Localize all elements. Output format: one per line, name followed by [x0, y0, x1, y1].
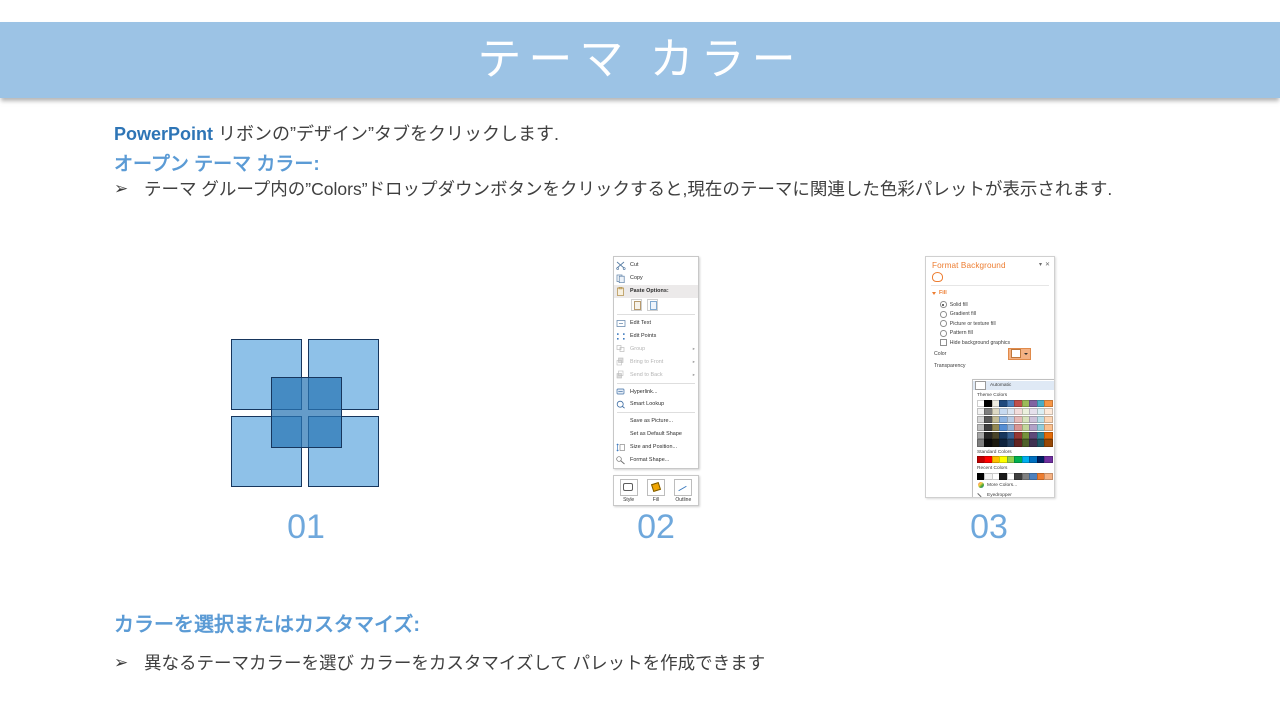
context-menu-label: Set as Default Shape: [616, 431, 695, 437]
step-number-02: 02: [596, 508, 716, 547]
eyedropper-icon: [977, 492, 984, 498]
menu-divider: [617, 412, 695, 413]
field-transparency: Transparency: [926, 360, 1054, 372]
fill-group-header[interactable]: Fill: [926, 290, 1054, 296]
step-number-03: 03: [929, 508, 1049, 547]
context-menu-item-edit-text[interactable]: Edit Text: [614, 317, 698, 330]
bullet-choose-customize: ➢ 異なるテーマカラーを選び カラーをカスタマイズして パレットを作成できます: [114, 650, 934, 676]
fill-bucket-icon: [647, 479, 665, 496]
step-number-01: 01: [246, 508, 366, 547]
context-menu-item-smart-lookup[interactable]: Smart Lookup: [614, 398, 698, 411]
smart-lookup-icon: [616, 400, 627, 409]
intro-line: PowerPoint リボンの”デザイン”タブをクリックします.: [114, 120, 1144, 146]
choose-customize-heading: カラーを選択またはカスタマイズ:: [114, 608, 420, 637]
context-menu-item-bring-to-front: Bring to Front ▸: [614, 355, 698, 368]
brand-name: PowerPoint: [114, 124, 213, 144]
size-position-icon: [616, 443, 627, 452]
context-menu-screenshot: Cut Copy Paste Options: Edit Text: [613, 256, 699, 506]
option-gradient-fill[interactable]: Gradient fill: [926, 310, 1054, 320]
bullet-open-theme-text: テーマ グループ内の”Colors”ドロップダウンボタンをクリックすると,現在の…: [144, 176, 1114, 202]
recent-colors-row[interactable]: [973, 473, 1055, 480]
chevron-right-icon: ▸: [691, 359, 695, 365]
radio-icon: [940, 311, 947, 318]
bullet-open-theme: ➢ テーマ グループ内の”Colors”ドロップダウンボタンをクリックすると,現…: [114, 176, 1114, 202]
mini-toolbar-outline[interactable]: Outline: [671, 479, 695, 503]
send-back-icon: [616, 370, 627, 379]
menu-divider: [617, 383, 695, 384]
color-automatic-item[interactable]: Automatic: [973, 381, 1055, 390]
context-menu-item-copy[interactable]: Copy: [614, 272, 698, 285]
theme-colors-label: Theme Colors: [973, 390, 1055, 400]
context-menu-item-save-as-picture[interactable]: Save as Picture...: [614, 415, 698, 428]
eyedropper-item[interactable]: Eyedropper: [973, 491, 1055, 498]
mini-toolbar-label: Style: [617, 497, 641, 503]
option-label: Hide background graphics: [950, 340, 1010, 346]
scissors-icon: [616, 261, 627, 270]
context-menu-label: Smart Lookup: [630, 401, 695, 407]
mini-toolbar-style[interactable]: Style: [617, 479, 641, 503]
context-menu-item-edit-points[interactable]: Edit Points: [614, 330, 698, 343]
page-title: テーマ カラー: [0, 22, 1280, 98]
intro-rest: リボンの”デザイン”タブをクリックします.: [213, 124, 559, 144]
context-menu-label: Save as Picture...: [616, 418, 695, 424]
theme-variants-grid[interactable]: [973, 408, 1055, 446]
chevron-down-icon[interactable]: ▾: [1039, 261, 1042, 269]
radio-icon: [940, 330, 947, 337]
bullet-choose-customize-text: 異なるテーマカラーを選び カラーをカスタマイズして パレットを作成できます: [144, 650, 934, 676]
context-menu-label: Size and Position...: [630, 444, 695, 450]
format-background-pane-screenshot: Format Background ▾ ✕ Fill Solid fill Gr…: [925, 256, 1055, 498]
palette-icon: [977, 482, 984, 489]
chevron-down-icon: [932, 292, 936, 295]
context-menu-item-paste-options[interactable]: Paste Options:: [614, 285, 698, 298]
open-theme-heading: オープン テーマ カラー:: [114, 149, 320, 176]
paste-keep-source-formatting-button[interactable]: [631, 299, 642, 311]
format-background-title: Format Background: [932, 261, 1036, 270]
color-automatic-label: Automatic: [990, 383, 1011, 388]
divider: [931, 285, 1049, 286]
context-menu-item-cut[interactable]: Cut: [614, 259, 698, 272]
theme-colors-row[interactable]: [973, 400, 1055, 409]
checkbox-icon: [940, 339, 947, 346]
fill-group-label: Fill: [939, 290, 947, 296]
context-menu-label: Bring to Front: [630, 359, 691, 365]
context-menu-item-format-shape[interactable]: Format Shape...: [614, 454, 698, 467]
context-menu-item-size-and-position[interactable]: Size and Position...: [614, 441, 698, 454]
format-background-header: Format Background ▾ ✕: [926, 257, 1054, 270]
context-menu-label: Edit Points: [630, 333, 695, 339]
option-solid-fill[interactable]: Solid fill: [926, 300, 1054, 310]
chevron-right-icon: ▸: [691, 372, 695, 378]
shape-style-icon: [620, 479, 638, 496]
field-color: Color: [926, 348, 1054, 360]
eyedropper-label: Eyedropper: [987, 493, 1012, 498]
context-menu-panel: Cut Copy Paste Options: Edit Text: [613, 256, 699, 469]
standard-colors-label: Standard Colors: [973, 447, 1055, 457]
field-label: Transparency: [934, 363, 968, 369]
copy-icon: [616, 274, 627, 283]
color-dropdown-button[interactable]: [1008, 348, 1031, 360]
context-menu-label: Paste Options:: [630, 288, 695, 294]
hyperlink-icon: [616, 387, 627, 396]
shape-mini-toolbar: Style Fill Outline: [613, 475, 699, 506]
paste-icon: [616, 287, 627, 296]
mini-toolbar-fill[interactable]: Fill: [644, 479, 668, 503]
color-picker-dropdown: Automatic Theme Colors Standard Colors R…: [972, 379, 1055, 498]
bullet-arrow-icon: ➢: [114, 176, 144, 202]
radio-icon: [940, 301, 947, 308]
close-icon[interactable]: ✕: [1045, 261, 1050, 269]
outline-pen-icon: [674, 479, 692, 496]
context-menu-label: Group: [630, 346, 691, 352]
square-center-overlay: [271, 377, 342, 448]
edit-text-icon: [616, 319, 627, 328]
more-colors-item[interactable]: More Colors...: [973, 481, 1055, 490]
context-menu-label: Send to Back: [630, 372, 691, 378]
context-menu-item-hyperlink[interactable]: Hyperlink...: [614, 385, 698, 398]
context-menu-label: Cut: [630, 262, 695, 268]
four-squares-diagram: [231, 339, 381, 489]
context-menu-label: Format Shape...: [630, 457, 695, 463]
fill-bucket-icon[interactable]: [932, 271, 945, 282]
color-swatch: [1011, 349, 1021, 358]
color-swatch[interactable]: [1044, 439, 1053, 446]
mini-toolbar-label: Fill: [644, 497, 668, 503]
context-menu-label: Hyperlink...: [630, 389, 695, 395]
menu-divider: [617, 314, 695, 315]
field-label: Color: [934, 351, 968, 357]
recent-colors-label: Recent Colors: [973, 463, 1055, 473]
color-swatch[interactable]: [1044, 424, 1053, 431]
color-swatch: [975, 381, 986, 390]
option-label: Solid fill: [950, 302, 968, 308]
standard-colors-row[interactable]: [973, 456, 1055, 463]
bring-front-icon: [616, 357, 627, 366]
option-picture-or-texture-fill[interactable]: Picture or texture fill: [926, 319, 1054, 329]
option-pattern-fill[interactable]: Pattern fill: [926, 329, 1054, 339]
color-swatch[interactable]: [1044, 473, 1053, 480]
chevron-down-icon: [1024, 353, 1028, 355]
option-label: Gradient fill: [950, 311, 976, 317]
edit-points-icon: [616, 332, 627, 341]
chevron-right-icon: ▸: [691, 346, 695, 352]
color-swatch[interactable]: [1044, 400, 1053, 408]
format-shape-icon: [616, 456, 627, 465]
paste-picture-button[interactable]: [647, 299, 658, 311]
radio-icon: [940, 320, 947, 327]
color-swatch[interactable]: [1044, 456, 1053, 463]
context-menu-label: Copy: [630, 275, 695, 281]
option-hide-background-graphics[interactable]: Hide background graphics: [926, 338, 1054, 348]
color-swatch[interactable]: [1044, 408, 1053, 415]
color-swatch[interactable]: [1044, 432, 1053, 439]
color-swatch[interactable]: [1044, 416, 1053, 423]
paste-options-buttons: [614, 298, 698, 313]
more-colors-label: More Colors...: [987, 483, 1017, 488]
context-menu-label: Edit Text: [630, 320, 695, 326]
group-icon: [616, 344, 627, 353]
mini-toolbar-label: Outline: [671, 497, 695, 503]
bullet-arrow-icon: ➢: [114, 650, 144, 676]
option-label: Picture or texture fill: [950, 321, 996, 327]
option-label: Pattern fill: [950, 330, 973, 336]
context-menu-item-set-as-default-shape[interactable]: Set as Default Shape: [614, 428, 698, 441]
context-menu-item-group: Group ▸: [614, 342, 698, 355]
context-menu-item-send-to-back: Send to Back ▸: [614, 368, 698, 381]
slide-title-banner: テーマ カラー: [0, 22, 1280, 98]
